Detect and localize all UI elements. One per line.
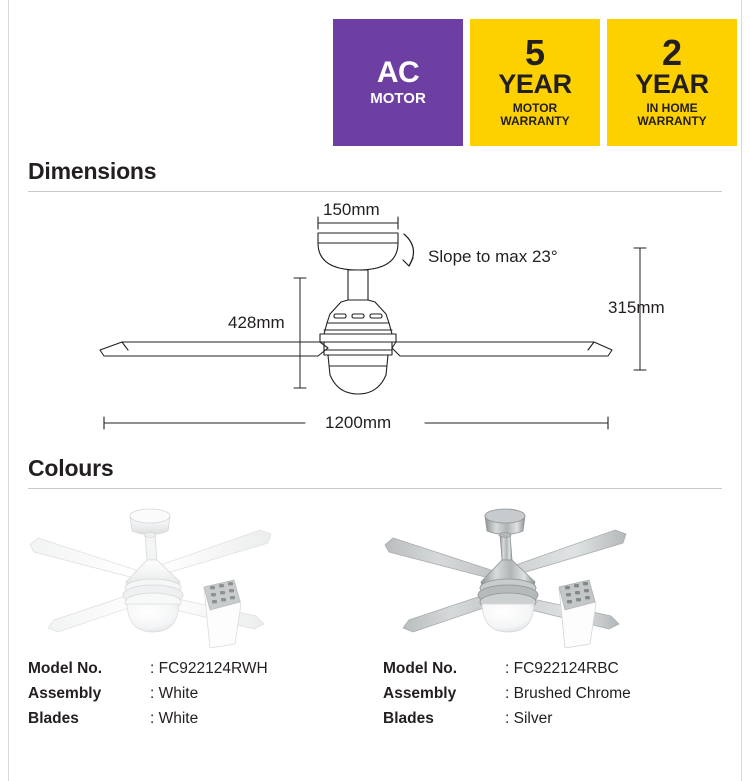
spec-key-blades: Blades	[383, 706, 505, 731]
dimension-label-slope-note: Slope to max 23°	[428, 247, 558, 267]
spec-value-model-no: : FC922124RBC	[505, 656, 619, 681]
spec-value-model-no: : FC922124RWH	[150, 656, 268, 681]
product-variant-brushed-chrome: Model No. : FC922124RBC Assembly : Brush…	[383, 498, 738, 731]
badge-in-home-warranty-line2: IN HOME	[646, 102, 697, 115]
dimension-label-blade-span: 1200mm	[325, 413, 391, 433]
spec-row: Model No. : FC922124RWH	[28, 656, 383, 681]
spec-row: Model No. : FC922124RBC	[383, 656, 738, 681]
badge-motor-warranty-number: 5	[525, 36, 545, 70]
badge-motor-warranty: 5 YEAR MOTOR WARRANTY	[470, 19, 600, 146]
spec-row: Assembly : White	[28, 681, 383, 706]
spec-value-blades: : Silver	[505, 706, 552, 731]
badge-ac-motor: AC MOTOR	[333, 19, 463, 146]
spec-row: Blades : Silver	[383, 706, 738, 731]
product-spec-table-white: Model No. : FC922124RWH Assembly : White…	[28, 656, 383, 731]
spec-row: Blades : White	[28, 706, 383, 731]
spec-key-blades: Blades	[28, 706, 150, 731]
spec-key-assembly: Assembly	[383, 681, 505, 706]
badge-ac-motor-subtitle: MOTOR	[370, 91, 426, 107]
dimension-label-canopy-width: 150mm	[323, 200, 380, 220]
ceiling-fan-white-illustration	[28, 498, 358, 648]
dimension-label-overall-height: 315mm	[608, 298, 665, 318]
section-colours-header: Colours	[28, 455, 722, 489]
dimension-label-drop-height: 428mm	[228, 313, 285, 333]
product-image-white	[28, 498, 358, 648]
spec-key-model-no: Model No.	[28, 656, 150, 681]
spec-row: Assembly : Brushed Chrome	[383, 681, 738, 706]
badge-motor-warranty-line2: MOTOR	[513, 102, 557, 115]
badge-in-home-warranty: 2 YEAR IN HOME WARRANTY	[607, 19, 737, 146]
spec-sheet-page: AC MOTOR 5 YEAR MOTOR WARRANTY 2 YEAR IN…	[0, 0, 750, 781]
spec-value-assembly: : Brushed Chrome	[505, 681, 631, 706]
section-dimensions-header: Dimensions	[28, 158, 722, 192]
badge-motor-warranty-line3: WARRANTY	[500, 115, 569, 128]
section-colours-title: Colours	[28, 455, 722, 482]
badge-row: AC MOTOR 5 YEAR MOTOR WARRANTY 2 YEAR IN…	[333, 19, 737, 146]
spec-value-assembly: : White	[150, 681, 198, 706]
badge-in-home-warranty-unit: YEAR	[635, 71, 708, 98]
badge-ac-motor-title: AC	[377, 58, 419, 88]
spec-key-model-no: Model No.	[383, 656, 505, 681]
ceiling-fan-brushed-chrome-illustration	[383, 498, 713, 648]
badge-motor-warranty-unit: YEAR	[498, 71, 571, 98]
colour-variants-row: Model No. : FC922124RWH Assembly : White…	[0, 498, 750, 768]
product-spec-table-brushed-chrome: Model No. : FC922124RBC Assembly : Brush…	[383, 656, 738, 731]
badge-in-home-warranty-line3: WARRANTY	[637, 115, 706, 128]
spec-key-assembly: Assembly	[28, 681, 150, 706]
spec-value-blades: : White	[150, 706, 198, 731]
product-variant-white: Model No. : FC922124RWH Assembly : White…	[28, 498, 383, 731]
dimension-diagram: 150mm Slope to max 23° 428mm 315mm 1200m…	[0, 190, 750, 445]
section-dimensions-title: Dimensions	[28, 158, 722, 185]
product-image-brushed-chrome	[383, 498, 713, 648]
section-colours-rule	[28, 488, 722, 489]
badge-in-home-warranty-number: 2	[662, 36, 682, 70]
